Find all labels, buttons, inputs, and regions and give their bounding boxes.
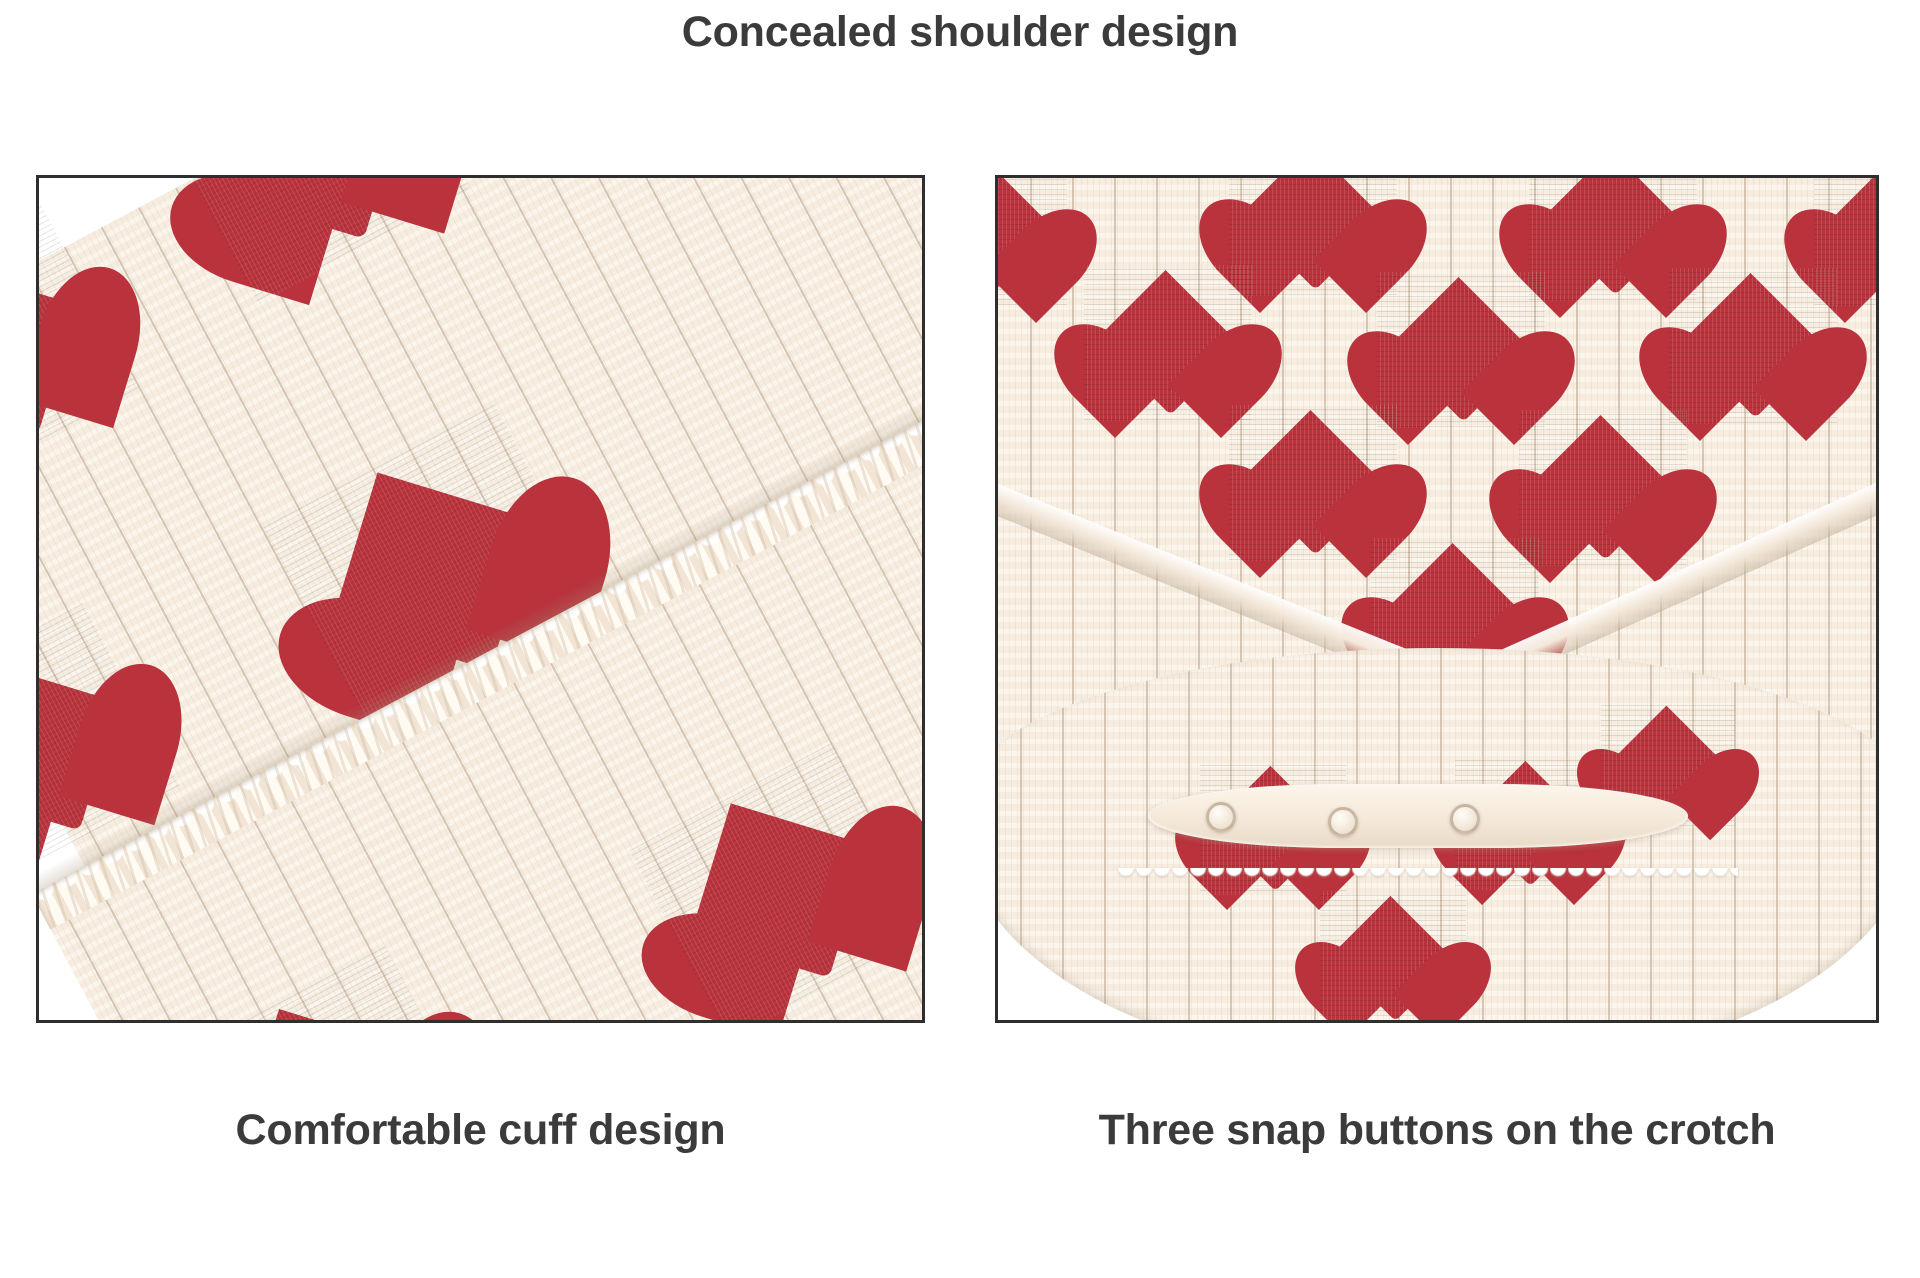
heart-motif: [1386, 280, 1536, 420]
heart-motif: [188, 959, 474, 1020]
sleeve-fabric-group: [39, 178, 922, 1020]
page-title: Concealed shoulder design: [0, 0, 1920, 64]
feature-panels: [0, 175, 1920, 1023]
feature-image-cuff[interactable]: [36, 175, 925, 1023]
caption-cuff: Comfortable cuff design: [36, 1095, 925, 1165]
snap-button-2[interactable]: [1328, 807, 1358, 837]
heart-motif: [1528, 418, 1678, 558]
cuff-photo: [39, 178, 922, 1020]
heart-motif: [170, 178, 454, 288]
heart-motif: [1093, 273, 1243, 413]
heart-motif: [1238, 178, 1388, 288]
snap-button-3[interactable]: [1450, 804, 1480, 834]
heart-motif: [644, 756, 917, 1020]
panel-captions: Comfortable cuff design Three snap butto…: [0, 1095, 1920, 1165]
heart-motif: [1823, 178, 1876, 298]
heart-motif: [1328, 898, 1458, 1018]
picot-edge-trim: [1118, 868, 1738, 888]
snap-button-1[interactable]: [1206, 802, 1236, 832]
bodysuit-group: [998, 178, 1876, 1020]
heart-motif: [1538, 178, 1688, 293]
heart-motif: [1238, 413, 1388, 553]
heart-motif: [1678, 276, 1828, 416]
crotch-photo: [998, 178, 1876, 1020]
heart-motif: [39, 218, 124, 480]
feature-image-crotch[interactable]: [995, 175, 1879, 1023]
heart-motif: [998, 178, 1058, 298]
caption-crotch: Three snap buttons on the crotch: [995, 1095, 1879, 1165]
